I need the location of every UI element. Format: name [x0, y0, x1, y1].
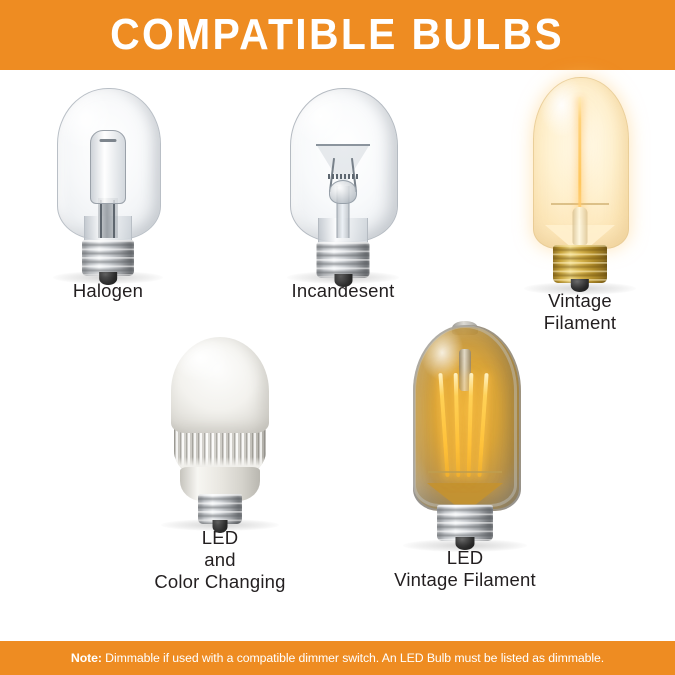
page-title: COMPATIBLE BULBS: [111, 13, 565, 57]
header-bar: COMPATIBLE BULBS: [0, 0, 675, 70]
dimmable-note: Note: Dimmable if used with a compatible…: [71, 651, 604, 665]
footer-note-bar: Note: Dimmable if used with a compatible…: [0, 641, 675, 675]
incandescent-bulb-icon: [287, 88, 399, 280]
vintage-filament-bulb-icon: [524, 75, 636, 290]
led-bulb-icon: [160, 337, 280, 527]
bulb-caption-led-vintage-filament: LED Vintage Filament: [355, 547, 575, 591]
caption-line: Vintage Filament: [355, 569, 575, 591]
note-label: Note:: [71, 651, 102, 665]
bulb-item-incandescent[interactable]: Incandesent: [253, 88, 433, 302]
caption-line: and: [110, 549, 330, 571]
bulb-item-led[interactable]: LED and Color Changing: [110, 337, 330, 592]
brass-screw-base: [553, 245, 607, 283]
bulb-grid: Halogen Incandesent: [0, 70, 675, 641]
bulb-caption-led: LED and Color Changing: [110, 527, 330, 592]
compatible-bulbs-infographic: COMPATIBLE BULBS Halogen: [0, 0, 675, 675]
bulb-item-vintage-filament[interactable]: Vintage Filament: [490, 75, 670, 334]
silver-screw-base: [437, 505, 493, 541]
caption-line: Color Changing: [110, 571, 330, 593]
bulb-item-led-vintage-filament[interactable]: LED Vintage Filament: [355, 325, 575, 591]
bulb-item-halogen[interactable]: Halogen: [18, 88, 198, 302]
led-vintage-filament-bulb-icon: [402, 325, 528, 547]
note-text: Dimmable if used with a compatible dimme…: [105, 651, 604, 665]
halogen-bulb-icon: [53, 88, 163, 280]
